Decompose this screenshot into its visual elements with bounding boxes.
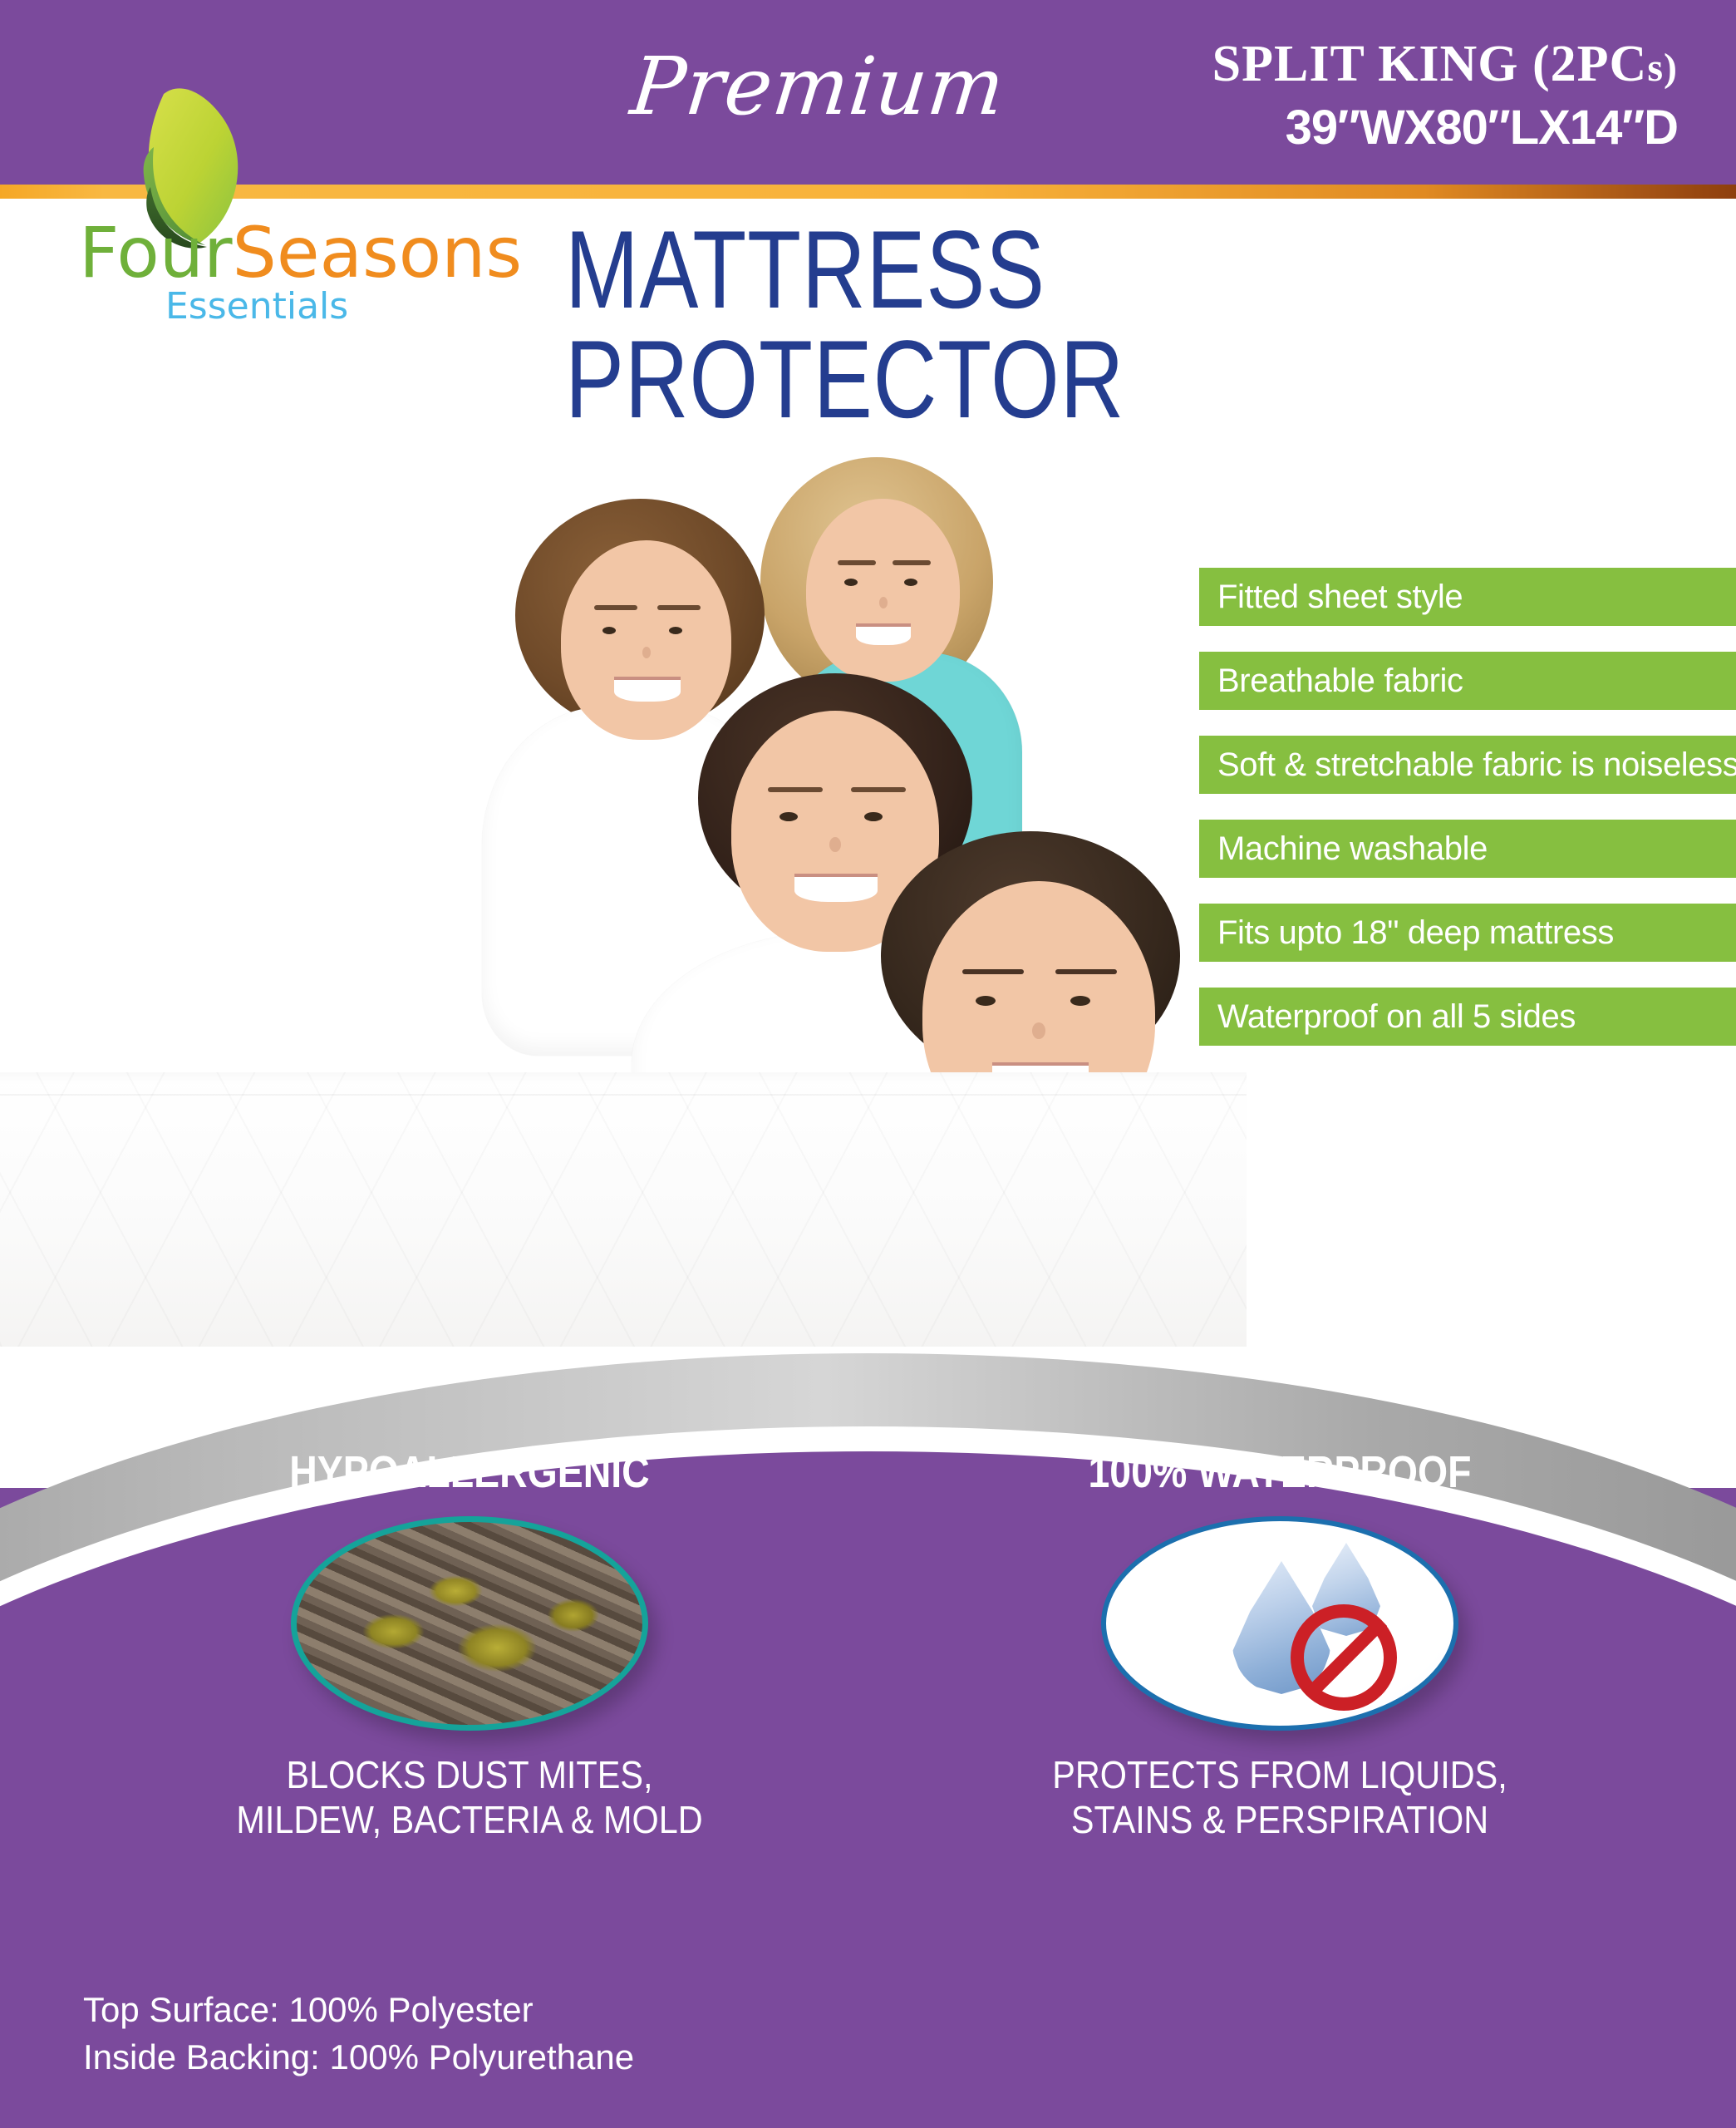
product-title: MATTRESS PROTECTOR: [565, 218, 1280, 433]
girl-head: [806, 499, 960, 682]
feature-item-5: Waterproof on all 5 sides: [1199, 988, 1736, 1046]
waterproof-badge: [1101, 1516, 1458, 1731]
no-symbol-icon: [1291, 1604, 1397, 1711]
boy-head: [561, 540, 731, 740]
material-info: Top Surface: 100% Polyester Inside Backi…: [83, 1987, 1080, 2081]
brand-logo: FourSeasons Essentials: [79, 79, 511, 295]
benefit-caption-line-1: BLOCKS DUST MITES,: [118, 1752, 821, 1797]
size-name-label: SPLIT KING (2PCs): [1212, 35, 1678, 94]
benefit-caption-line-1: PROTECTS FROM LIQUIDS,: [928, 1752, 1631, 1797]
logo-word-four: Four: [79, 212, 233, 293]
material-inside-backing: Inside Backing: 100% Polyurethane: [83, 2034, 1080, 2081]
family-on-mattress-photo: [0, 432, 1247, 1347]
feature-item-4: Fits upto 18" deep mattress: [1199, 904, 1736, 962]
logo-word-seasons: Seasons: [233, 212, 523, 293]
premium-label: Premium: [627, 40, 1010, 133]
benefit-caption-waterproof: PROTECTS FROM LIQUIDS, STAINS & PERSPIRA…: [928, 1752, 1631, 1843]
water-drops-no-symbol-icon: [1101, 1516, 1458, 1731]
benefit-caption-hypoallergenic: BLOCKS DUST MITES, MILDEW, BACTERIA & MO…: [118, 1752, 821, 1843]
mattress-surface: [0, 1072, 1247, 1347]
benefit-hypoallergenic: HYPOALLERGENIC BLOCKS DUST MITES, MILDEW…: [79, 1446, 860, 1843]
feature-item-3: Machine washable: [1199, 820, 1736, 878]
benefit-waterproof: 100% WATERPROOF PROTECTS FROM LIQUIDS, S…: [889, 1446, 1670, 1843]
feature-item-2: Soft & stretchable fabric is noiseless: [1199, 736, 1736, 794]
size-name-text: SPLIT KING (2PC: [1212, 36, 1648, 92]
benefit-caption-line-2: STAINS & PERSPIRATION: [928, 1797, 1631, 1842]
dust-mite-icon: [291, 1516, 648, 1731]
benefit-title-hypoallergenic: HYPOALLERGENIC: [134, 1446, 805, 1498]
material-top-surface: Top Surface: 100% Polyester: [83, 1987, 1080, 2034]
size-name-suffix: s): [1647, 46, 1678, 90]
feature-item-1: Breathable fabric: [1199, 652, 1736, 710]
feature-item-0: Fitted sheet style: [1199, 568, 1736, 626]
benefits-section: HYPOALLERGENIC BLOCKS DUST MITES, MILDEW…: [0, 1446, 1736, 1978]
dust-mites-microscope-image: [291, 1516, 648, 1731]
dimensions-label: 39″WX80″LX14″D: [1286, 100, 1678, 155]
benefit-caption-line-2: MILDEW, BACTERIA & MOLD: [118, 1797, 821, 1842]
logo-wordmark: FourSeasons: [79, 212, 511, 293]
logo-word-essentials: Essentials: [165, 285, 348, 328]
product-title-line-1: MATTRESS: [565, 218, 1137, 323]
product-title-line-2: PROTECTOR: [565, 328, 1137, 432]
feature-list: Fitted sheet style Breathable fabric Sof…: [1199, 568, 1736, 1071]
benefit-title-waterproof: 100% WATERPROOF: [944, 1446, 1616, 1498]
